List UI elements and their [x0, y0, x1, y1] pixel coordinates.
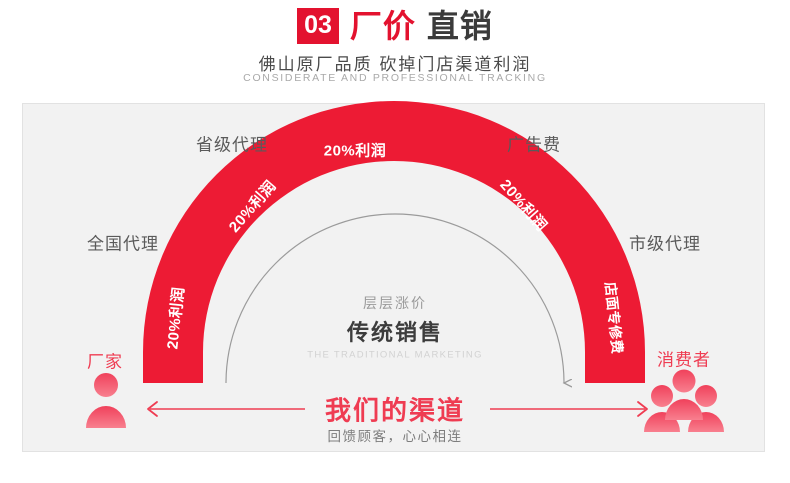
label-provincial-agent: 省级代理 [196, 131, 268, 156]
center-subtitle: 层层涨价 [363, 293, 427, 313]
header: 03 厂价 直销 佛山原厂品质 砍掉门店渠道利润 CONSIDERATE AND… [0, 0, 790, 100]
label-advertising-fee: 广告费 [507, 131, 561, 156]
title-dark-part: 直销 [427, 10, 493, 42]
title-red-part: 厂价 [350, 10, 416, 42]
promo-banner: 03 厂价 直销 佛山原厂品质 砍掉门店渠道利润 CONSIDERATE AND… [0, 0, 790, 483]
section-number-badge: 03 [297, 8, 339, 44]
label-manufacturer: 厂家 [87, 348, 123, 373]
label-consumers: 消费者 [657, 346, 711, 371]
bottom-subtitle: 回馈顾客，心心相连 [328, 425, 463, 445]
bottom-title: 我们的渠道 [325, 391, 465, 428]
label-city-agent: 市级代理 [629, 230, 701, 255]
subtitle-english: CONSIDERATE AND PROFESSIONAL TRACKING [0, 72, 790, 84]
center-english: THE TRADITIONAL MARKETING [307, 350, 483, 361]
label-national-agent: 全国代理 [87, 230, 159, 255]
arc-label-top: 20%利润 [324, 140, 387, 161]
center-title: 传统销售 [347, 315, 443, 347]
page-title: 03 厂价 直销 [0, 7, 790, 45]
